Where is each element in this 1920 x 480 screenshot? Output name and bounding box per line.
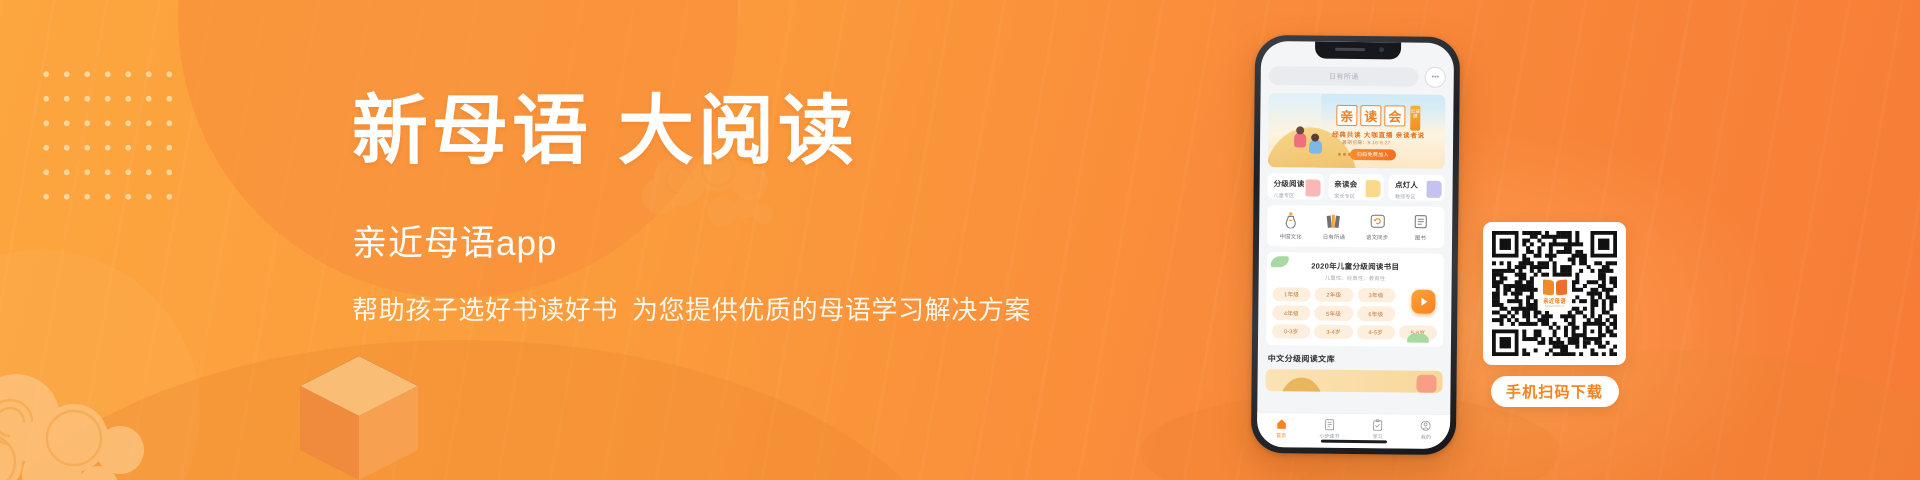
hero-child-figure-a xyxy=(1294,132,1306,147)
app-search-row: 日有所诵 ••• xyxy=(1269,65,1446,88)
phone-speaker xyxy=(1335,48,1365,51)
hero-char-1: 亲 xyxy=(1336,105,1357,126)
search-placeholder: 日有所诵 xyxy=(1329,71,1359,81)
search-input[interactable]: 日有所诵 xyxy=(1269,66,1419,87)
subtitle: 亲近母语app xyxy=(352,215,1052,266)
grade-pill[interactable]: 3-4岁 xyxy=(1314,324,1352,339)
book-icon xyxy=(1413,214,1428,230)
banner-copy: 新母语大阅读 亲近母语app 帮助孩子选好书读好书为您提供优质的母语学习解决方案 xyxy=(352,92,1052,327)
qr-code-icon[interactable]: 亲近母语 QINJIN MUYU xyxy=(1483,222,1626,365)
phone-notch xyxy=(1314,42,1400,60)
tagline: 帮助孩子选好书读好书为您提供优质的母语学习解决方案 xyxy=(352,290,1052,327)
tab-home[interactable]: 首页 xyxy=(1260,417,1302,439)
quick-entry-label: 日有所诵 xyxy=(1315,233,1353,241)
tab-label: 我的 xyxy=(1405,433,1447,440)
tab-reading-list[interactable]: 小步读书 xyxy=(1308,418,1350,440)
library-card[interactable] xyxy=(1265,369,1442,393)
grade-pill[interactable]: 4年级 xyxy=(1272,306,1310,321)
qr-download-block: 亲近母语 QINJIN MUYU 手机扫码下载 xyxy=(1483,222,1626,407)
cloud-motif-icon xyxy=(0,346,234,480)
grade-pill[interactable]: 5年级 xyxy=(1314,306,1352,321)
promo-banner: 新母语大阅读 亲近母语app 帮助孩子选好书读好书为您提供优质的母语学习解决方案… xyxy=(0,0,1920,480)
reading-list-icon xyxy=(1324,418,1335,430)
open-book-logo-icon xyxy=(1543,280,1567,296)
video-play-icon[interactable] xyxy=(1411,290,1435,314)
sync-circle-icon xyxy=(1370,213,1385,229)
scan-download-button[interactable]: 手机扫码下载 xyxy=(1491,376,1619,407)
leaf-decoration-icon xyxy=(1407,334,1429,343)
quick-entry[interactable]: 图书 xyxy=(1401,213,1439,241)
phone-mockup: 日有所诵 ••• 亲 读 会 公益课 经典共读 大咖 xyxy=(1251,35,1460,455)
zone-shape-icon xyxy=(1366,180,1381,197)
headline-part-1: 新母语 xyxy=(352,90,592,174)
zone-shape-icon xyxy=(1427,181,1442,198)
quick-entry-label: 中国文化 xyxy=(1272,232,1310,240)
decorative-dot-grid xyxy=(36,62,176,212)
grade-pill[interactable]: 3年级 xyxy=(1357,288,1395,303)
qr-center-logo: 亲近母语 QINJIN MUYU xyxy=(1538,277,1572,311)
tab-label: 首页 xyxy=(1260,432,1302,439)
zone-card[interactable]: 分级阅读 儿童专区 xyxy=(1267,173,1323,200)
booklist-card[interactable]: 2020年儿童分级阅读书目 儿童性、经典性、教育性 1年级 2年级 3年级 4年… xyxy=(1266,252,1444,347)
library-section-title: 中文分级阅读文库 xyxy=(1266,353,1443,366)
zone-card[interactable]: 亲读会 家长专区 xyxy=(1328,174,1384,201)
tagline-part-2: 为您提供优质的母语学习解决方案 xyxy=(632,295,1031,325)
headline-part-2: 大阅读 xyxy=(618,90,858,174)
tab-mine[interactable]: 我的 xyxy=(1405,419,1447,441)
hero-ribbon-badge: 公益课 xyxy=(1410,106,1420,131)
hero-child-figure-b xyxy=(1309,140,1322,154)
quick-entry-row: 中国文化 日有所诵 语文同步 xyxy=(1267,205,1444,248)
culture-vase-icon xyxy=(1283,212,1298,228)
grade-pill[interactable]: 1年级 xyxy=(1272,287,1310,302)
grade-pill[interactable]: 4-5岁 xyxy=(1357,325,1395,340)
tab-study[interactable]: 学习 xyxy=(1357,418,1399,440)
zone-card[interactable]: 点灯人 教师专区 xyxy=(1389,174,1445,201)
tagline-part-1: 帮助孩子选好书读好书 xyxy=(352,295,618,325)
hero-cta-button[interactable]: 扫码免费加入 xyxy=(1350,149,1396,160)
phone-home-indicator xyxy=(1320,439,1386,443)
clipboard-check-icon xyxy=(1372,418,1383,430)
app-tabbar: 首页 小步读书 学习 xyxy=(1257,412,1450,449)
zone-shape-icon xyxy=(1305,179,1320,196)
quick-entry[interactable]: 语文同步 xyxy=(1358,213,1396,241)
hero-title-row: 亲 读 会 公益课 xyxy=(1336,105,1420,131)
headline: 新母语大阅读 xyxy=(352,92,1052,173)
hero-date: 暑期招募：9.16-9.27 xyxy=(1342,139,1391,147)
quick-entry-label: 图书 xyxy=(1401,233,1439,241)
qr-logo-text: 亲近母语 xyxy=(1543,297,1566,305)
booklist-subtitle: 儿童性、经典性、教育性 xyxy=(1273,274,1438,283)
home-icon xyxy=(1276,417,1287,429)
grade-pill[interactable]: 6年级 xyxy=(1357,306,1395,321)
user-circle-icon xyxy=(1420,419,1431,431)
grade-pill[interactable]: 2年级 xyxy=(1315,288,1353,303)
phone-camera xyxy=(1379,47,1384,52)
books-stack-icon xyxy=(1327,213,1342,229)
quick-entry[interactable]: 中国文化 xyxy=(1272,212,1310,240)
app-hero-card[interactable]: 亲 读 会 公益课 经典共读 大咖直播 亲读者说 暑期招募：9.16-9.27 … xyxy=(1268,93,1446,169)
qr-logo-subtext: QINJIN MUYU xyxy=(1545,305,1564,308)
quick-entry-label: 语文同步 xyxy=(1358,233,1396,241)
hero-char-2: 读 xyxy=(1360,105,1381,126)
phone-screen: 日有所诵 ••• 亲 读 会 公益课 经典共读 大咖 xyxy=(1257,41,1454,449)
cube-decoration-icon xyxy=(300,356,418,480)
quick-entry[interactable]: 日有所诵 xyxy=(1315,213,1353,241)
message-dots-icon[interactable]: ••• xyxy=(1425,67,1446,88)
hero-char-3: 会 xyxy=(1384,105,1405,126)
app-content: 日有所诵 ••• 亲 读 会 公益课 经典共读 大咖 xyxy=(1257,41,1454,393)
grade-pill[interactable]: 0-3岁 xyxy=(1272,324,1310,339)
booklist-title: 2020年儿童分级阅读书目 xyxy=(1273,260,1438,273)
zone-card-row: 分级阅读 儿童专区 亲读会 家长专区 点灯人 教师专区 xyxy=(1267,173,1444,201)
